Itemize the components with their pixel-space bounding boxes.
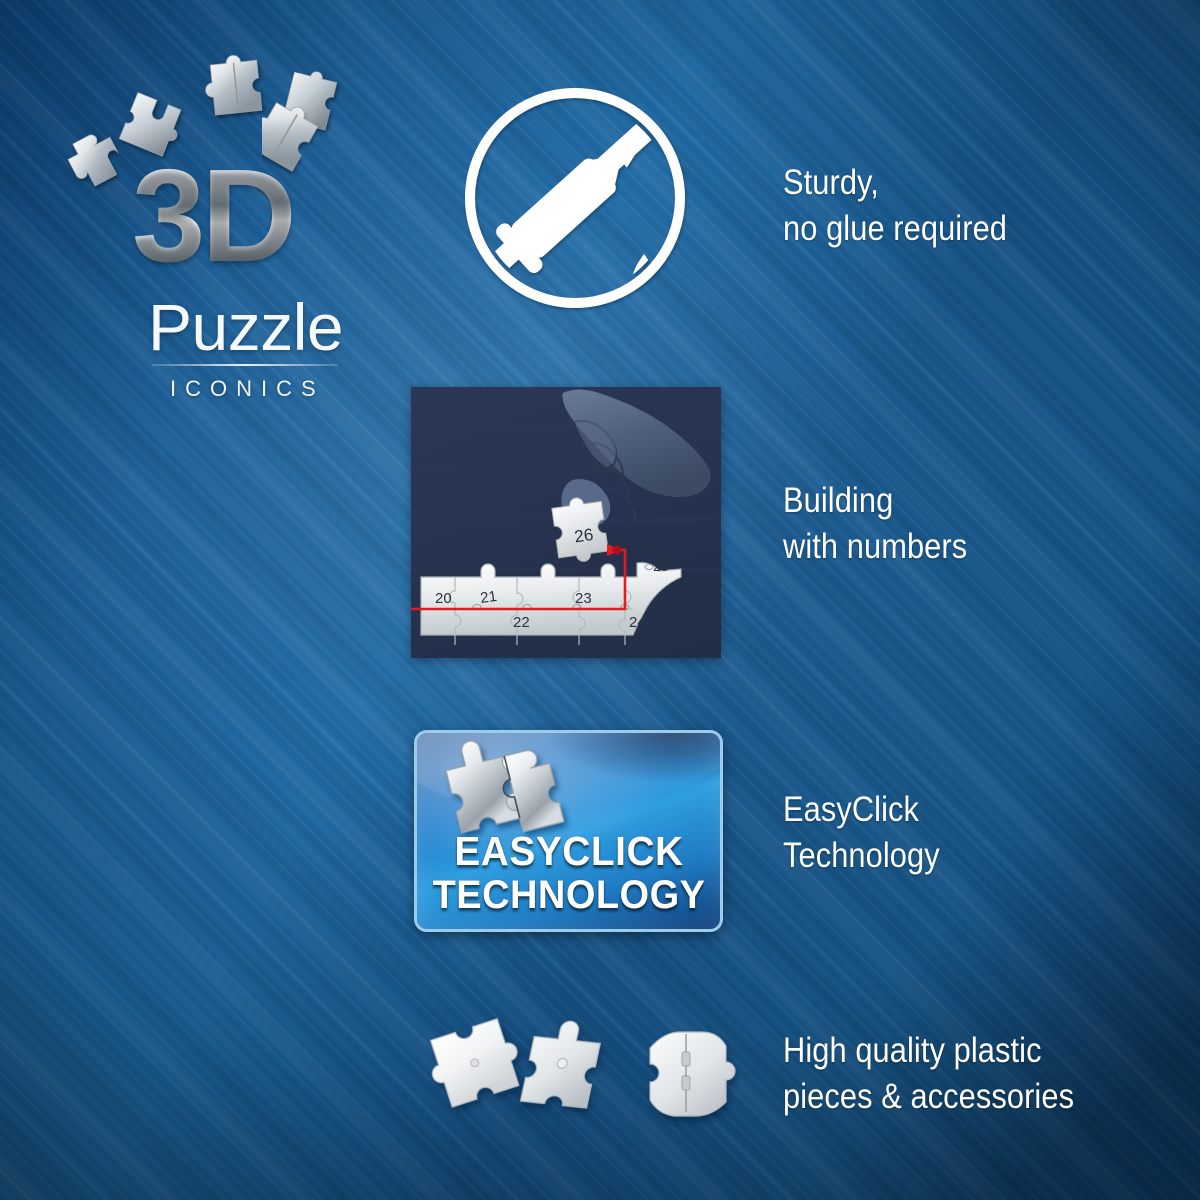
logo-3d-text: 3D xyxy=(132,150,293,282)
piece-number: 24 xyxy=(629,614,646,631)
building-with-numbers-photo: 26 20 21 22 23 xyxy=(411,387,721,658)
puzzle-piece-angled xyxy=(521,1018,605,1108)
logo-iconics-text: ICONICS xyxy=(170,376,325,402)
badge-text-easyclick: EASYCLICK xyxy=(454,828,683,875)
feature-label-no-glue: Sturdy, no glue required xyxy=(783,160,1007,252)
badge-text-technology: TECHNOLOGY xyxy=(432,873,705,918)
feature-label-quality: High quality plastic pieces & accessorie… xyxy=(783,1028,1074,1120)
piece-number: 25 xyxy=(653,558,669,574)
brand-logo: 3D Puzzle ICONICS xyxy=(40,42,370,372)
puzzle-piece-flat xyxy=(422,1016,527,1110)
puzzle-piece-hinged-corner xyxy=(650,1032,735,1116)
logo-puzzle-text: Puzzle xyxy=(148,294,343,360)
feature-label-easyclick: EasyClick Technology xyxy=(783,787,940,879)
held-piece-number: 26 xyxy=(573,525,594,546)
piece-number: 22 xyxy=(513,614,530,631)
easyclick-technology-badge: EASYCLICK TECHNOLOGY xyxy=(414,730,723,932)
feature-label-numbers: Building with numbers xyxy=(783,478,967,570)
piece-number: 21 xyxy=(479,588,498,607)
plastic-puzzle-pieces xyxy=(400,1004,740,1134)
no-glue-icon xyxy=(462,84,692,316)
piece-number: 20 xyxy=(435,590,452,607)
logo-divider xyxy=(152,364,338,366)
